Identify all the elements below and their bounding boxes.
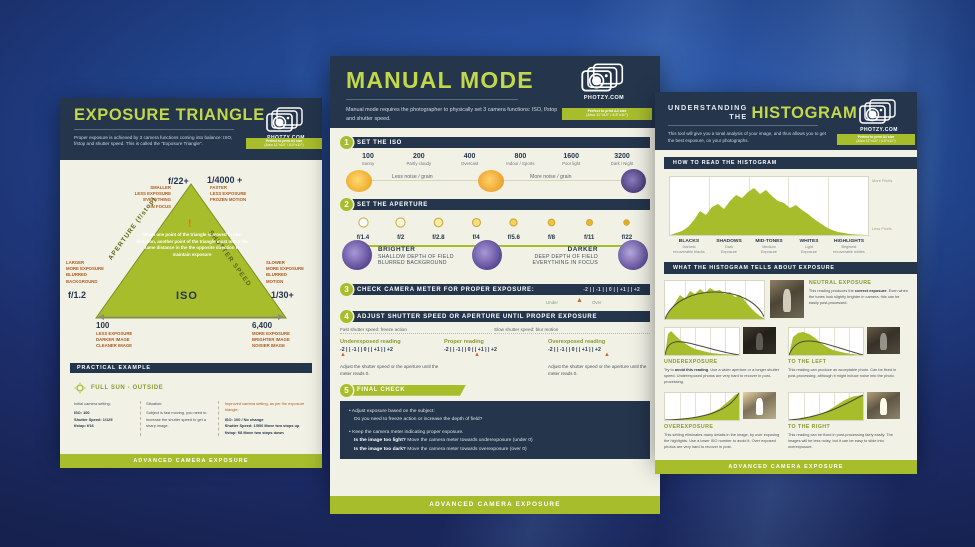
scenario-title: FULL SUN - OUTSIDE [91,385,163,391]
left-thumbnail [867,327,900,354]
aperture-item: f/8 [535,215,569,241]
final-question-2: Is the image too dark? Move the camera m… [349,446,641,455]
aperture-circles: f/1.4 f/2 f/2.8 f/4 f/5.6 f/8 f/11 f/22 [340,215,650,241]
aperture-value: f/2 [384,234,418,241]
step-3-meter-scale: -2 | | -1 | | 0 | | +1 | | +2 [583,287,640,293]
print-badge-line2: (Also 11"x14" / 8.5"x11") [264,143,303,147]
final-q2-bold: Is the image too dark? [354,447,406,452]
histogram-subtitle: This tool will give you a tonal analysis… [668,130,833,144]
iso-high-value: 6,400 [252,321,272,330]
over-area [665,393,739,420]
noise-left-label: Less noise / grain [392,174,433,180]
neutral-histogram [664,280,765,320]
shutter-notes-row: Fast shutter speed: freeze action Slow s… [340,327,650,334]
histogram-footer: ADVANCED CAMERA EXPOSURE [655,460,917,474]
right-title: TO THE RIGHT [788,424,904,430]
pe-col3-row-2: f/stop: f/8 Move two stops down [225,430,284,435]
over-body: This setting eliminates many details in … [664,432,780,450]
pe-col2-heading: Situation: [146,401,213,407]
final-q2-rest: Move the camera meter towards overexposu… [406,447,527,452]
under-body-pre: Try to [664,367,675,372]
aperture-value: f/11 [572,234,606,241]
neutral-thumbnail [770,280,804,318]
pe-col1-row-0: ISO: 100 [74,410,90,415]
aperture-value: f/8 [535,234,569,241]
reading-underexposed: Underexposed reading -2 | | -1 | | 0 | |… [340,339,444,378]
reading-proper: Proper reading -2 | | -1 | | 0 | | +1 | … [444,339,548,378]
zone-shadows: SHADOWSDark Exposure [709,239,749,255]
aperture-right-block: DARKER DEEP DEPTH OF FIELD EVERYTHING IN… [508,246,598,266]
iso-value: 100 [344,153,392,160]
under-body: Try to avoid this reading. Use a wider a… [664,367,780,385]
histogram-plot [669,176,869,236]
zone-desc: Darkest recoverable blacks [669,245,709,255]
reading-title: Underexposed reading [340,339,444,345]
step-2-number: 2 [340,198,353,211]
screenshot-root: EXPOSURE TRIANGLE Proper exposure is ach… [0,0,975,547]
final-check-box: • Adjust exposure based on the subject: … [340,401,650,459]
grain-sample-low [346,170,372,192]
aperture-dof-row: BRIGHTER SHALLOW DEPTH OF FIELD BLURRED … [340,243,650,279]
photzy-wordmark-3: PHOTZY.COM [855,127,903,133]
pe-col3-heading: Improved camera setting, as per the expo… [225,401,310,414]
reading-pointer-icon: ▲ [604,352,650,358]
left-body: This reading can produce an acceptable p… [788,367,904,379]
under-title: UNDEREXPOSURE [664,359,780,365]
iso-item: 3200Dark / Night [598,153,646,166]
final-bullet-2: • Keep the camera meter indicating prope… [349,429,641,438]
zone-name: MID-TONES [755,239,782,244]
histogram-title: HISTOGRAM [751,105,857,122]
pe-column-improved: Improved camera setting, as per the expo… [218,401,310,436]
section-what-histogram-tells: WHAT THE HISTOGRAM TELLS ABOUT EXPOSURE [664,262,917,274]
aperture-right-title: DARKER [508,246,598,253]
panel-overexposure: OVEREXPOSURE This setting eliminates man… [664,392,780,450]
over-histogram [664,392,740,421]
iso-desc: Sunny [344,161,392,166]
aperture-value: f/2.8 [421,234,455,241]
photzy-logo-3: PHOTZY.COM [855,98,903,133]
zone-whites: WHITESLight Exposure [789,239,829,255]
histogram-card-body: HOW TO READ THE HISTOGRAM More Pixels Le… [655,150,917,460]
zone-desc: Dark Exposure [709,245,749,255]
less-pixels-label: Less Pixels [872,226,892,231]
triangle-card-body: f/22+ 1/4000 + SMALLER LESS EXPOSURE EVE… [60,160,322,454]
triangle-card-header: EXPOSURE TRIANGLE Proper exposure is ach… [60,98,322,160]
histogram-kicker: UNDERSTANDING THE [668,103,747,121]
iso-desc: Poor light [547,161,595,166]
triangle-top-left-value: f/22+ [168,176,189,186]
scenario-row: FULL SUN - OUTSIDE [74,382,163,394]
iso-value: 400 [446,153,494,160]
iso-value: 3200 [598,153,646,160]
pe-col1-row-2: f/stop: f/16 [74,423,94,428]
aperture-item: f/4 [459,215,493,241]
neutral-body-bold: correct exposure [855,288,887,293]
under-body-bold: avoid this reading [675,367,708,372]
aperture-icon [433,217,444,228]
print-badge-2: Perfect to print A4 size (Also 11"x14" /… [562,108,652,120]
panel-to-the-left: TO THE LEFT This reading can produce an … [788,327,904,385]
triangle-right-note: SLOWER MORE EXPOSURE BLURRED MOTION [266,260,318,285]
iso-item: 200Partly cloudy [395,153,443,166]
iso-item: 1600Poor light [547,153,595,166]
aperture-right-line2: EVERYTHING IN FOCUS [508,260,598,266]
reading-body: Adjust the shutter speed or the aperture… [340,363,444,378]
practical-example-bar: PRACTICAL EXAMPLE [70,363,312,373]
aperture-item: f/2 [384,215,418,241]
final-q1-bold: Is the image too light? [354,438,406,443]
left-histogram [788,327,864,356]
triangle-top-right-value: 1/4000 + [207,175,242,185]
step-1: 1 SET THE ISO [340,136,650,149]
pe-column-initial: Initial camera setting: ISO: 100 Shutter… [74,401,140,436]
grain-sample-high [621,169,646,193]
pe-col3-row-0: ISO: 100 / No change [225,417,264,422]
under-histogram [664,327,740,356]
final-q1-rest: Move the camera meter towards underexpos… [406,438,533,443]
noise-right-label: More noise / grain [530,174,572,180]
pe-col3-row-1: Shutter Speed: 1/500 Move two stops up [225,423,300,428]
pe-col1-row-1: Shutter Speed: 1/125 [74,417,113,422]
triangle-center-text: When one point of the triangle is moved … [136,232,248,258]
practical-example-columns: Initial camera setting: ISO: 100 Shutter… [74,401,310,436]
iso-desc: Indoor / Sports [496,161,544,166]
zone-name: BLACKS [679,239,699,244]
zone-midtones: MID-TONESMedium Exposure [749,239,789,255]
reading-title: Overexposed reading [548,339,650,345]
print-badge-3: Perfect to print A4 size (Also 11"x14" /… [837,134,915,145]
zone-name: WHITES [799,239,818,244]
zone-desc: Brightest recoverable whites [829,245,869,255]
zone-name: SHADOWS [716,239,742,244]
grain-sample-mid [478,170,504,192]
more-pixels-label: More Pixels [872,178,892,183]
exposure-triangle-card[interactable]: EXPOSURE TRIANGLE Proper exposure is ach… [60,98,322,454]
panel-row-over-right: OVEREXPOSURE This setting eliminates man… [664,392,908,450]
zone-desc: Light Exposure [789,245,829,255]
right-body: This reading can be fixed in post-proces… [788,432,904,450]
slow-shutter-note: Slow shutter speed: blur motion [494,327,650,334]
meter-under-label: Under [546,300,558,305]
aperture-item: f/11 [572,215,606,241]
readings-row: Underexposed reading -2 | | -1 | | 0 | |… [340,339,650,378]
left-area [789,328,863,355]
meter-over-label: Over [592,300,602,305]
step-4: 4 ADJUST SHUTTER SPEED OR APERTURE UNTIL… [340,310,650,323]
zone-blacks: BLACKSDarkest recoverable blacks [669,239,709,255]
step-5: 5 FINAL CHECK [340,384,650,397]
bokeh-sample-mid [472,240,502,270]
histogram-kicker-line2: THE [668,112,747,121]
triangle-subtitle: Proper exposure is achieved by 3 camera … [74,135,239,149]
step-1-label: SET THE ISO [348,137,650,148]
reading-body: Adjust the shutter speed or the aperture… [548,363,650,378]
under-thumbnail [743,327,776,354]
reading-overexposed: Overexposed reading -2 | | -1 | | 0 | | … [548,339,650,378]
iso-value: 1600 [547,153,595,160]
left-title: TO THE LEFT [788,359,904,365]
over-title: OVEREXPOSURE [664,424,780,430]
sun-icon [74,382,86,394]
step-5-label: FINAL CHECK [348,385,466,396]
aperture-icon [546,217,557,228]
iso-low-value: 100 [96,321,109,330]
manual-card-body: 1 SET THE ISO 100Sunny 200Partly cloudy … [330,128,660,496]
aperture-item: f/22 [610,215,644,241]
neutral-area [665,281,765,319]
right-thumbnail [867,392,900,419]
step-4-label: ADJUST SHUTTER SPEED OR APERTURE UNTIL P… [348,311,650,322]
aperture-icon [621,217,632,228]
bokeh-sample-right [618,240,648,270]
fast-shutter-note: Fast shutter speed: freeze action [340,327,492,334]
photzy-wordmark-2: PHOTZY.COM [576,95,632,101]
iso-item: 100Sunny [344,153,392,166]
bokeh-sample-left [342,240,372,270]
manual-mode-card[interactable]: MANUAL MODE Manual mode requires the pho… [330,56,660,496]
reading-title: Proper reading [444,339,548,345]
iso-high-note: MORE EXPOSURE BRIGHTER IMAGE NOISIER IMA… [252,331,314,350]
zone-name: HIGHLIGHTS [834,239,864,244]
print-badge-2-line2: (Also 11"x14" / 8.5"x11") [586,113,628,117]
aperture-left-block: BRIGHTER SHALLOW DEPTH OF FIELD BLURRED … [378,246,454,266]
aperture-icon [508,217,519,228]
iso-value: 800 [496,153,544,160]
neutral-title: NEUTRAL EXPOSURE [809,280,908,286]
step-1-number: 1 [340,136,353,149]
final-question-1: Is the image too light? Move the camera … [349,437,641,446]
under-area [665,328,739,355]
print-badge: Perfect to print A4 size (Also 11"x14" /… [246,138,322,149]
pe-col1-heading: Initial camera setting: [74,401,135,407]
histogram-card[interactable]: UNDERSTANDING THE HISTOGRAM This tool wi… [655,92,917,460]
manual-subtitle: Manual mode requires the photographer to… [346,106,561,124]
meter-pointer-icon: ▲ [576,297,583,304]
step-3-label: CHECK CAMERA METER FOR PROPER EXPOSURE: [357,287,534,293]
left-graphics [788,327,904,356]
aperture-left-title: BRIGHTER [378,246,454,253]
panel-underexposure: UNDEREXPOSURE Try to avoid this reading.… [664,327,780,385]
aperture-left-line2: BLURRED BACKGROUND [378,260,454,266]
over-graphics [664,392,780,421]
histogram-area [670,177,868,235]
iso-noise-row: Less noise / grain More noise / grain [340,168,650,198]
step-3-number: 3 [340,283,353,296]
panel-to-the-right: TO THE RIGHT This reading can be fixed i… [788,392,904,450]
right-graphics [788,392,904,421]
aperture-item: f/1.4 [346,215,380,241]
iso-desc: Dark / Night [598,161,646,166]
neutral-body: This reading produces the correct exposu… [809,288,908,306]
panel-neutral: NEUTRAL EXPOSURE This reading produces t… [664,280,908,320]
right-area [789,393,863,420]
histogram-title-rule [668,125,818,126]
step-5-number: 5 [340,384,353,397]
iso-scale: 100Sunny 200Partly cloudy 400Overcast 80… [340,153,650,166]
iso-value: 200 [395,153,443,160]
aperture-icon [584,217,595,228]
panel-row-under-left: UNDEREXPOSURE Try to avoid this reading.… [664,327,908,385]
step-2: 2 SET THE APERTURE [340,198,650,211]
under-graphics [664,327,780,356]
step-3: 3 CHECK CAMERA METER FOR PROPER EXPOSURE… [340,283,650,296]
iso-low-note: LESS EXPOSURE DARKER IMAGE CLEANER IMAGE [96,331,156,350]
aperture-icon [471,217,482,228]
manual-card-header: MANUAL MODE Manual mode requires the pho… [330,56,660,128]
final-bullet-1: • Adjust exposure based on the subject: [349,408,641,417]
zone-highlights: HIGHLIGHTSBrightest recoverable whites [829,239,869,255]
final-bullet-1-sub: Do you need to freeze action or increase… [349,416,641,425]
aperture-value: f/5.6 [497,234,531,241]
photzy-logo: PHOTZY.COM [262,106,310,141]
triangle-right-value: 1/30+ [271,290,294,300]
triangle-iso-label: ISO [176,290,198,302]
aperture-item: f/2.8 [421,215,455,241]
iso-item: 800Indoor / Sports [496,153,544,166]
pe-column-situation: Situation: Subject is fast moving, you n… [140,401,218,436]
histogram-kicker-line1: UNDERSTANDING [668,103,747,112]
triangle-footer: ADVANCED CAMERA EXPOSURE [60,454,322,468]
section-how-to-read: HOW TO READ THE HISTOGRAM [664,157,917,169]
pe-col2-text: Subject is fast moving, you need to incr… [146,410,213,429]
zone-desc: Medium Exposure [749,245,789,255]
right-histogram [788,392,864,421]
print-badge-3-line2: (Also 11"x14" / 8.5"x11") [856,139,895,143]
histogram-card-header: UNDERSTANDING THE HISTOGRAM This tool wi… [655,92,917,150]
iso-item: 400Overcast [446,153,494,166]
meter-under-over-row: Under ▲ Over [340,300,650,310]
step-2-label: SET THE APERTURE [348,199,650,210]
neutral-body-pre: This reading produces the [809,288,855,293]
over-thumbnail [743,392,776,419]
triangle-left-note: LARGER MORE EXPOSURE BLURRED BACKGROUND [66,260,118,285]
iso-desc: Partly cloudy [395,161,443,166]
camera-icon-2 [581,62,627,94]
camera-icon [266,106,306,134]
neutral-text: NEUTRAL EXPOSURE This reading produces t… [809,280,908,320]
warning-icon: ! [188,218,192,230]
triangle-left-value: f/1.2 [68,290,86,300]
aperture-item: f/5.6 [497,215,531,241]
triangle-top-right-note: FASTER LESS EXPOSURE FROZEN MOTION [210,185,262,204]
triangle-title-rule [74,129,234,130]
iso-desc: Overcast [446,161,494,166]
step-3-bar: CHECK CAMERA METER FOR PROPER EXPOSURE: … [348,284,650,295]
step-4-number: 4 [340,310,353,323]
main-histogram-chart: More Pixels Less Pixels [664,176,908,236]
aperture-icon [395,217,406,228]
camera-icon-3 [859,98,899,126]
histogram-zone-labels: BLACKSDarkest recoverable blacks SHADOWS… [669,239,869,255]
manual-footer: ADVANCED CAMERA EXPOSURE [330,496,660,514]
photzy-logo-2: PHOTZY.COM [576,62,632,101]
manual-title-rule [346,99,518,100]
aperture-icon [358,217,369,228]
